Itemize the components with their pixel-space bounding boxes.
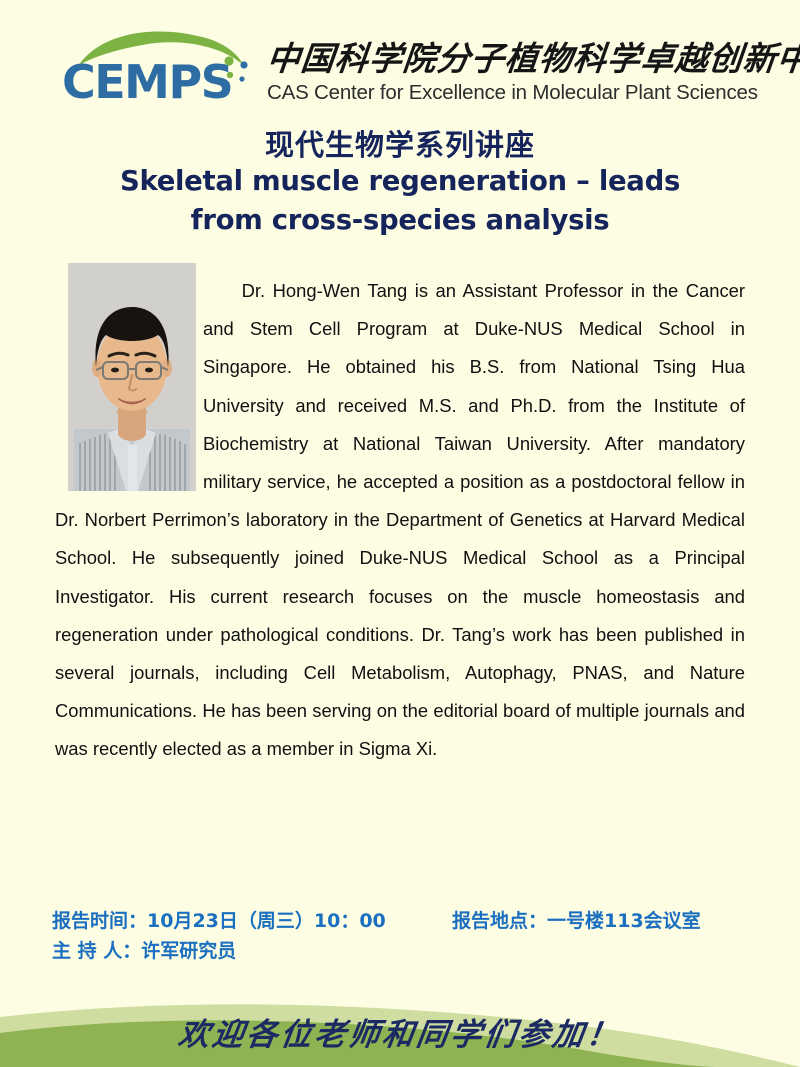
event-place: 报告地点：一号楼113会议室 [452, 906, 701, 936]
talk-title-english: Skeletal muscle regeneration – leads fro… [100, 162, 700, 240]
event-time: 报告时间：10月23日（周三）10：00 [52, 906, 452, 936]
cemps-wordmark: CEMPS [62, 59, 232, 105]
poster-footer: 欢迎各位老师和同学们参加！ [0, 987, 800, 1067]
logo-dots-icon [220, 54, 254, 88]
cemps-logo: CEMPS [62, 26, 257, 108]
org-name-chinese: 中国科学院分子植物科学卓越创新中心 [265, 40, 800, 78]
portrait-illustration [68, 263, 196, 491]
seminar-poster: CEMPS 中国科学院分子植物科学卓越创新中心 CAS Center for E… [0, 0, 800, 1067]
organization-names: 中国科学院分子植物科学卓越创新中心 CAS Center for Excelle… [257, 40, 800, 108]
welcome-message: 欢迎各位老师和同学们参加！ [0, 1009, 800, 1054]
event-host: 主 持 人：许军研究员 [52, 936, 772, 966]
org-name-english: CAS Center for Excellence in Molecular P… [267, 81, 800, 106]
poster-header: CEMPS 中国科学院分子植物科学卓越创新中心 CAS Center for E… [0, 18, 800, 108]
event-details-row-1: 报告时间：10月23日（周三）10：00 报告地点：一号楼113会议室 [52, 906, 772, 936]
speaker-photo [68, 263, 196, 491]
event-details: 报告时间：10月23日（周三）10：00 报告地点：一号楼113会议室 主 持 … [52, 906, 772, 966]
series-title-chinese: 现代生物学系列讲座 [0, 122, 800, 164]
